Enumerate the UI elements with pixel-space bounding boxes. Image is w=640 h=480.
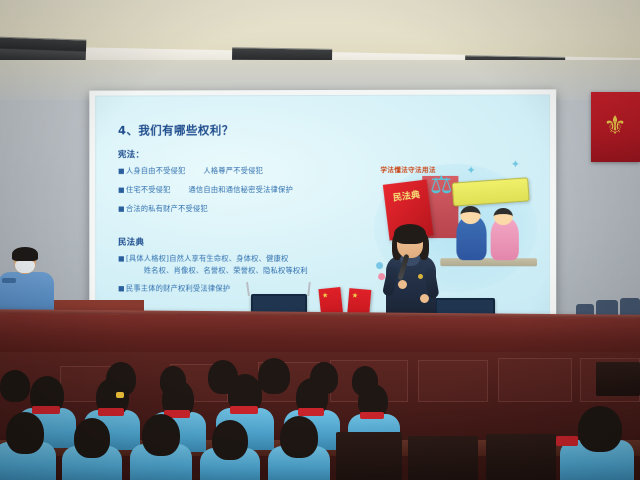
bullet-text: 住宅不受侵犯 [126,185,171,194]
bird-icon: ✦ [466,164,475,177]
civil-code-book-label: 民法典 [390,190,423,205]
bullet-text: 民事主体的财产权利受法律保护 [126,284,230,293]
presenter-badge [418,274,423,279]
bird-icon: ✦ [511,158,520,171]
bullet-item: ■民事主体的财产权利受法律保护 [118,284,230,294]
bullet-item: ■合法的私有财产不受侵犯 [118,204,208,214]
bullet-subtext: 姓名权、肖像权、名誉权、荣誉权、隐私权等权利 [144,266,308,276]
section-heading-constitution: 宪法： [118,148,144,160]
flag-star-icon: ★ [322,291,329,300]
cartoon-ground [440,258,537,266]
bullet-item: ■[具体人格权]自然人享有生命权、身体权、健康权 姓名权、肖像权、名誉权、荣誉权… [118,254,308,276]
presentation-slide: 4、我们有哪些权利？ 宪法： ■人身自由不受侵犯人格尊严不受侵犯 ■住宅不受侵犯… [95,94,550,314]
bullet-dot-icon: ■ [118,285,126,293]
auditorium-seat [596,362,640,396]
cartoon-figure-boy-head [460,206,480,224]
bullet-text: [具体人格权]自然人享有生命权、身体权、健康权 [126,254,289,263]
auditorium-seat [486,434,556,480]
hammer-and-sickle-icon: ⚜ [599,110,631,142]
section-heading-civil-code: 民法典 [118,236,144,248]
presenter-hand [420,294,429,303]
bullet-dot-icon: ■ [118,255,126,263]
cartoon-figure-girl-head [494,208,513,225]
bullet-extra: 人格尊严不受侵犯 [203,166,263,175]
bullet-dot-icon: ■ [118,186,126,194]
student-presenter [384,228,438,324]
face-mask-icon [15,261,35,273]
bullet-text: 人身自由不受侵犯 [126,166,186,175]
bullet-item: ■住宅不受侵犯通信自由和通信秘密受法律保护 [118,185,293,195]
officer-shoulder-board [2,278,16,283]
auditorium-seat [336,432,402,480]
auditorium-photo: ⚜ 4、我们有哪些权利？ 宪法： ■人身自由不受侵犯人格尊严不受侵犯 ■住宅不受… [0,0,640,480]
bullet-text: 合法的私有财产不受侵犯 [126,204,208,213]
auditorium-seat [408,436,478,480]
officer-hair [12,247,38,261]
party-banner: ⚜ [591,92,640,162]
cartoon-banner-text: 学法懂法守法用法 [373,164,443,174]
bullet-dot-icon: ■ [118,205,126,213]
projection-screen: 4、我们有哪些权利？ 宪法： ■人身自由不受侵犯人格尊严不受侵犯 ■住宅不受侵犯… [89,89,556,320]
flag-star-icon: ★ [351,291,358,300]
presenter-hand [398,280,407,289]
bullet-dot-icon: ■ [118,167,126,175]
presenter-hair [394,224,426,244]
slide-title: 4、我们有哪些权利？ [118,122,234,138]
bullet-item: ■人身自由不受侵犯人格尊严不受侵犯 [118,166,263,176]
bullet-extra: 通信自由和通信秘密受法律保护 [188,185,293,194]
